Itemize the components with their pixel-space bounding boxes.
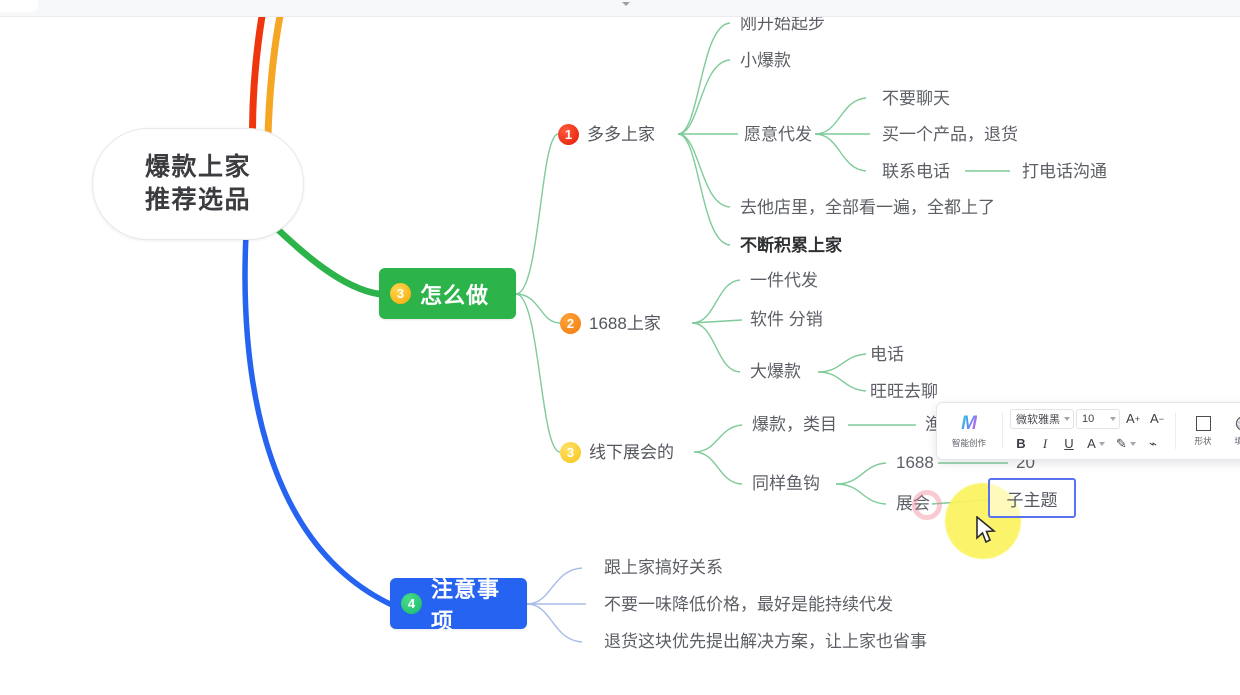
topic-node-same-fish-hook[interactable]: 同样鱼钩 [752, 474, 820, 494]
click-ripple-indicator [912, 490, 942, 520]
branch-node-notes[interactable]: 4 注意事项 [390, 578, 527, 629]
topic-label: 买一个产品，退货 [882, 125, 1018, 145]
highlighter-glyph: ✎ [1116, 436, 1127, 452]
topic-node-no-chat[interactable]: 不要聊天 [882, 89, 950, 109]
font-size-select[interactable]: 10 [1076, 409, 1120, 429]
topic-node-1688-supplier[interactable]: 2 1688上家 [560, 313, 661, 334]
decrease-font-icon[interactable]: A− [1146, 408, 1168, 430]
topic-node-phone[interactable]: 电话 [870, 345, 904, 365]
topic-node-offline-expo[interactable]: 3 线下展会的 [560, 442, 674, 463]
ai-create-label: 智能创作 [952, 436, 986, 448]
topic-index-badge: 2 [560, 313, 581, 334]
topic-index-badge: 3 [560, 442, 581, 463]
branch-node-label: 注意事项 [431, 572, 511, 636]
topic-label: 去他店里，全部看一遍，全都上了 [740, 198, 995, 218]
topic-node-pdd-supplier[interactable]: 1 多多上家 [558, 124, 655, 145]
topic-node-accumulate-suppliers[interactable]: 不断积累上家 [740, 236, 842, 256]
topic-node-hit-category[interactable]: 爆款，类目 [752, 415, 837, 435]
font-family-select[interactable]: 微软雅黑 [1010, 409, 1074, 429]
topic-label: 刚开始起步 [740, 14, 825, 34]
topic-label: 线下展会的 [589, 443, 674, 463]
topic-label: 软件 分销 [750, 310, 823, 330]
format-toolbar[interactable]: M 智能创作 微软雅黑 10 A+ A− [936, 402, 1240, 460]
topic-label: 多多上家 [587, 125, 655, 145]
branch-index-badge: 3 [390, 283, 411, 304]
decrease-font-label: A [1150, 411, 1159, 426]
topic-label: 1688上家 [589, 314, 661, 334]
topic-label: 打电话沟通 [1022, 162, 1107, 182]
editing-topic-node[interactable]: 子主题 [988, 478, 1076, 518]
topic-label: 同样鱼钩 [752, 474, 820, 494]
topic-label: 跟上家搞好关系 [604, 558, 723, 578]
topic-node-small-hit[interactable]: 小爆款 [740, 51, 791, 71]
ai-sparkle-icon: M [961, 414, 977, 434]
increase-font-sup: + [1135, 414, 1140, 424]
mindmap-canvas[interactable]: 爆款上家 推荐选品 3 怎么做 4 注意事项 1 多多上家 刚开始起步 小爆款 … [0, 0, 1240, 695]
app-toolbar-strip [0, 0, 1240, 17]
topic-label: 一件代发 [750, 271, 818, 291]
topic-label: 大爆款 [750, 362, 801, 382]
topic-label: 旺旺去聊 [870, 382, 938, 402]
topic-node-returns-solution-first[interactable]: 退货这块优先提出解决方案，让上家也省事 [604, 632, 927, 652]
topic-node-dont-only-cut-price[interactable]: 不要一味降低价格，最好是能持续代发 [604, 595, 893, 615]
increase-font-icon[interactable]: A+ [1122, 408, 1144, 430]
topic-node-call-to-communicate[interactable]: 打电话沟通 [1022, 162, 1107, 182]
topic-label: 愿意代发 [744, 125, 812, 145]
topic-label: 不要一味降低价格，最好是能持续代发 [604, 595, 893, 615]
topic-node-willing-dropship[interactable]: 愿意代发 [744, 125, 812, 145]
topic-node-good-relationship[interactable]: 跟上家搞好关系 [604, 558, 723, 578]
clear-format-icon[interactable]: ⌁ [1142, 433, 1164, 455]
fill-circle-icon [1236, 416, 1240, 431]
topic-label: 1688 [896, 453, 934, 473]
topic-node-software-distribution[interactable]: 软件 分销 [750, 310, 823, 330]
topic-label: 爆款，类目 [752, 415, 837, 435]
text-color-icon[interactable]: A [1082, 433, 1110, 455]
topic-label: 不断积累上家 [740, 236, 842, 256]
chevron-down-icon[interactable] [622, 2, 630, 6]
topic-node-1688[interactable]: 1688 [896, 453, 934, 473]
chevron-down-icon [1130, 442, 1136, 446]
fill-button[interactable]: 填充 [1223, 407, 1240, 455]
shape-label: 形状 [1194, 434, 1211, 446]
toolbar-corner [0, 0, 38, 12]
topic-node-buy-one-return[interactable]: 买一个产品，退货 [882, 125, 1018, 145]
editing-topic-label: 子主题 [1007, 486, 1058, 511]
chevron-down-icon [1110, 417, 1116, 421]
topic-label: 电话 [870, 345, 904, 365]
font-family-value: 微软雅黑 [1016, 411, 1060, 427]
decrease-font-sup: − [1159, 414, 1164, 424]
shape-button[interactable]: 形状 [1183, 407, 1223, 455]
highlighter-icon[interactable]: ✎ [1112, 433, 1140, 455]
branch-node-how-to[interactable]: 3 怎么做 [379, 268, 516, 319]
chevron-down-icon [1064, 417, 1070, 421]
text-color-label: A [1087, 436, 1096, 451]
topic-node-big-hit[interactable]: 大爆款 [750, 362, 801, 382]
italic-icon[interactable]: I [1034, 433, 1056, 455]
topic-label: 联系电话 [882, 162, 950, 182]
topic-label: 不要聊天 [882, 89, 950, 109]
font-size-value: 10 [1082, 413, 1094, 425]
topic-label: 小爆款 [740, 51, 791, 71]
topic-node-visit-store-list-all[interactable]: 去他店里，全部看一遍，全都上了 [740, 198, 995, 218]
increase-font-label: A [1126, 411, 1135, 426]
topic-node-single-item-dropship[interactable]: 一件代发 [750, 271, 818, 291]
connector-lines [0, 0, 1240, 695]
topic-label: 退货这块优先提出解决方案，让上家也省事 [604, 632, 927, 652]
root-node[interactable]: 爆款上家 推荐选品 [92, 128, 304, 240]
bold-icon[interactable]: B [1010, 433, 1032, 455]
root-node-line-2: 推荐选品 [145, 184, 251, 217]
root-node-line-1: 爆款上家 [145, 151, 251, 184]
toolbar-divider [1002, 413, 1003, 449]
square-shape-icon [1196, 416, 1211, 431]
branch-index-badge: 4 [401, 593, 422, 614]
topic-index-badge: 1 [558, 124, 579, 145]
fill-label: 填充 [1234, 434, 1240, 446]
topic-node-wangwang-chat[interactable]: 旺旺去聊 [870, 382, 938, 402]
toolbar-divider [1175, 413, 1176, 449]
chevron-down-icon [1099, 442, 1105, 446]
topic-node-just-starting[interactable]: 刚开始起步 [740, 14, 825, 34]
topic-node-contact-phone[interactable]: 联系电话 [882, 162, 950, 182]
underline-icon[interactable]: U [1058, 433, 1080, 455]
ai-create-button[interactable]: M 智能创作 [943, 407, 995, 455]
branch-node-label: 怎么做 [420, 278, 489, 310]
mouse-pointer-icon [975, 516, 997, 546]
